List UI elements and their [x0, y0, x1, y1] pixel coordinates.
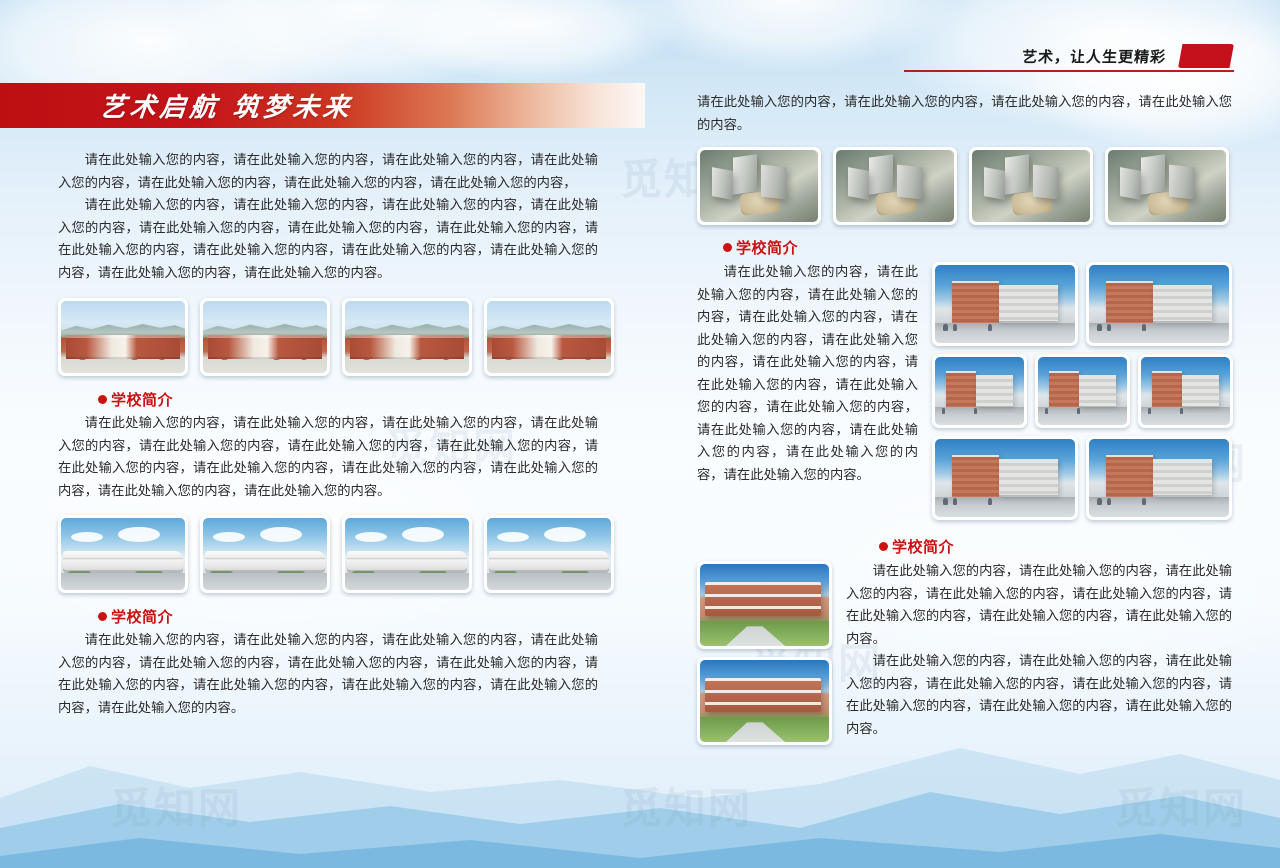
- left-section-2-text: 请在此处输入您的内容，请在此处输入您的内容，请在此处输入您的内容，请在此处输入您…: [58, 630, 598, 720]
- main-banner: 艺术启航 筑梦未来: [0, 83, 645, 128]
- bullet-dot-icon: [98, 395, 107, 404]
- left-photo-row-1: [58, 298, 598, 376]
- bullet-dot-icon: [98, 612, 107, 621]
- photo-thumbnail[interactable]: [1138, 354, 1233, 428]
- section-heading-left-2: 学校简介: [98, 606, 598, 627]
- right-bottom-block: 请在此处输入您的内容，请在此处输入您的内容，请在此处输入您的内容，请在此处输入您…: [697, 561, 1232, 745]
- right-section-2-paragraph-2: 请在此处输入您的内容，请在此处输入您的内容，请在此处输入您的内容，请在此处输入您…: [846, 651, 1232, 741]
- bullet-dot-icon: [723, 243, 732, 252]
- photo-thumbnail[interactable]: [58, 298, 188, 376]
- photo-thumbnail[interactable]: [697, 147, 821, 225]
- photo-thumbnail[interactable]: [200, 515, 330, 593]
- left-paragraph-1: 请在此处输入您的内容，请在此处输入您的内容，请在此处输入您的内容，请在此处输入您…: [58, 150, 598, 195]
- right-section-1-text: 请在此处输入您的内容，请在此处输入您的内容，请在此处输入您的内容，请在此处输入您…: [697, 262, 918, 487]
- photo-thumbnail[interactable]: [833, 147, 957, 225]
- photo-thumbnail[interactable]: [1035, 354, 1130, 428]
- right-intro-text: 请在此处输入您的内容，请在此处输入您的内容，请在此处输入您的内容，请在此处输入您…: [697, 92, 1232, 137]
- banner-title: 艺术启航 筑梦未来: [98, 87, 355, 124]
- photo-thumbnail[interactable]: [697, 561, 832, 649]
- right-section-2-paragraph-1: 请在此处输入您的内容，请在此处输入您的内容，请在此处输入您的内容，请在此处输入您…: [846, 561, 1232, 651]
- right-section-2-textblock: 请在此处输入您的内容，请在此处输入您的内容，请在此处输入您的内容，请在此处输入您…: [846, 561, 1232, 741]
- left-photo-row-2: [58, 515, 598, 593]
- left-column: 请在此处输入您的内容，请在此处输入您的内容，请在此处输入您的内容，请在此处输入您…: [58, 150, 598, 720]
- section-heading-label: 学校简介: [892, 536, 954, 557]
- photo-thumbnail[interactable]: [484, 515, 614, 593]
- section-heading-label: 学校简介: [111, 606, 173, 627]
- photo-thumbnail[interactable]: [969, 147, 1093, 225]
- tagline-underline: [904, 70, 1234, 72]
- right-text-and-grid: 请在此处输入您的内容，请在此处输入您的内容，请在此处输入您的内容，请在此处输入您…: [697, 262, 1232, 528]
- section-heading-right-2: 学校简介: [879, 536, 1232, 557]
- right-image-grid: [932, 262, 1232, 528]
- photo-thumbnail[interactable]: [932, 262, 1078, 346]
- right-photo-row-top: [697, 147, 1232, 225]
- grid-row-top: [932, 262, 1232, 346]
- left-section-1-text: 请在此处输入您的内容，请在此处输入您的内容，请在此处输入您的内容，请在此处输入您…: [58, 413, 598, 503]
- photo-thumbnail[interactable]: [200, 298, 330, 376]
- photo-thumbnail[interactable]: [58, 515, 188, 593]
- section-heading-label: 学校简介: [736, 237, 798, 258]
- red-tag-shape-icon: [1178, 44, 1234, 68]
- tagline-text: 艺术，让人生更精彩: [1021, 46, 1179, 70]
- photo-thumbnail[interactable]: [484, 298, 614, 376]
- right-section-1-textblock: 请在此处输入您的内容，请在此处输入您的内容，请在此处输入您的内容，请在此处输入您…: [697, 262, 918, 487]
- right-column: 请在此处输入您的内容，请在此处输入您的内容，请在此处输入您的内容，请在此处输入您…: [697, 92, 1232, 745]
- photo-thumbnail[interactable]: [1086, 262, 1232, 346]
- photo-thumbnail[interactable]: [1086, 436, 1232, 520]
- photo-thumbnail[interactable]: [697, 657, 832, 745]
- photo-thumbnail[interactable]: [932, 354, 1027, 428]
- photo-thumbnail[interactable]: [1105, 147, 1229, 225]
- grid-row-bottom: [932, 436, 1232, 520]
- right-side-photos: [697, 561, 832, 745]
- photo-thumbnail[interactable]: [342, 298, 472, 376]
- top-tagline-group: 艺术，让人生更精彩: [1022, 44, 1234, 70]
- page-canvas: 觅知网 觅知网 觅知网 觅知网 觅知网 觅知网 觅知网 艺术，让人生更精彩 艺术…: [0, 0, 1280, 868]
- section-heading-label: 学校简介: [111, 389, 173, 410]
- photo-thumbnail[interactable]: [932, 436, 1078, 520]
- grid-row-middle: [932, 354, 1232, 428]
- section-heading-right-1: 学校简介: [723, 237, 1232, 258]
- section-heading-left-1: 学校简介: [98, 389, 598, 410]
- photo-thumbnail[interactable]: [342, 515, 472, 593]
- left-paragraph-2: 请在此处输入您的内容，请在此处输入您的内容，请在此处输入您的内容，请在此处输入您…: [58, 195, 598, 285]
- bullet-dot-icon: [879, 542, 888, 551]
